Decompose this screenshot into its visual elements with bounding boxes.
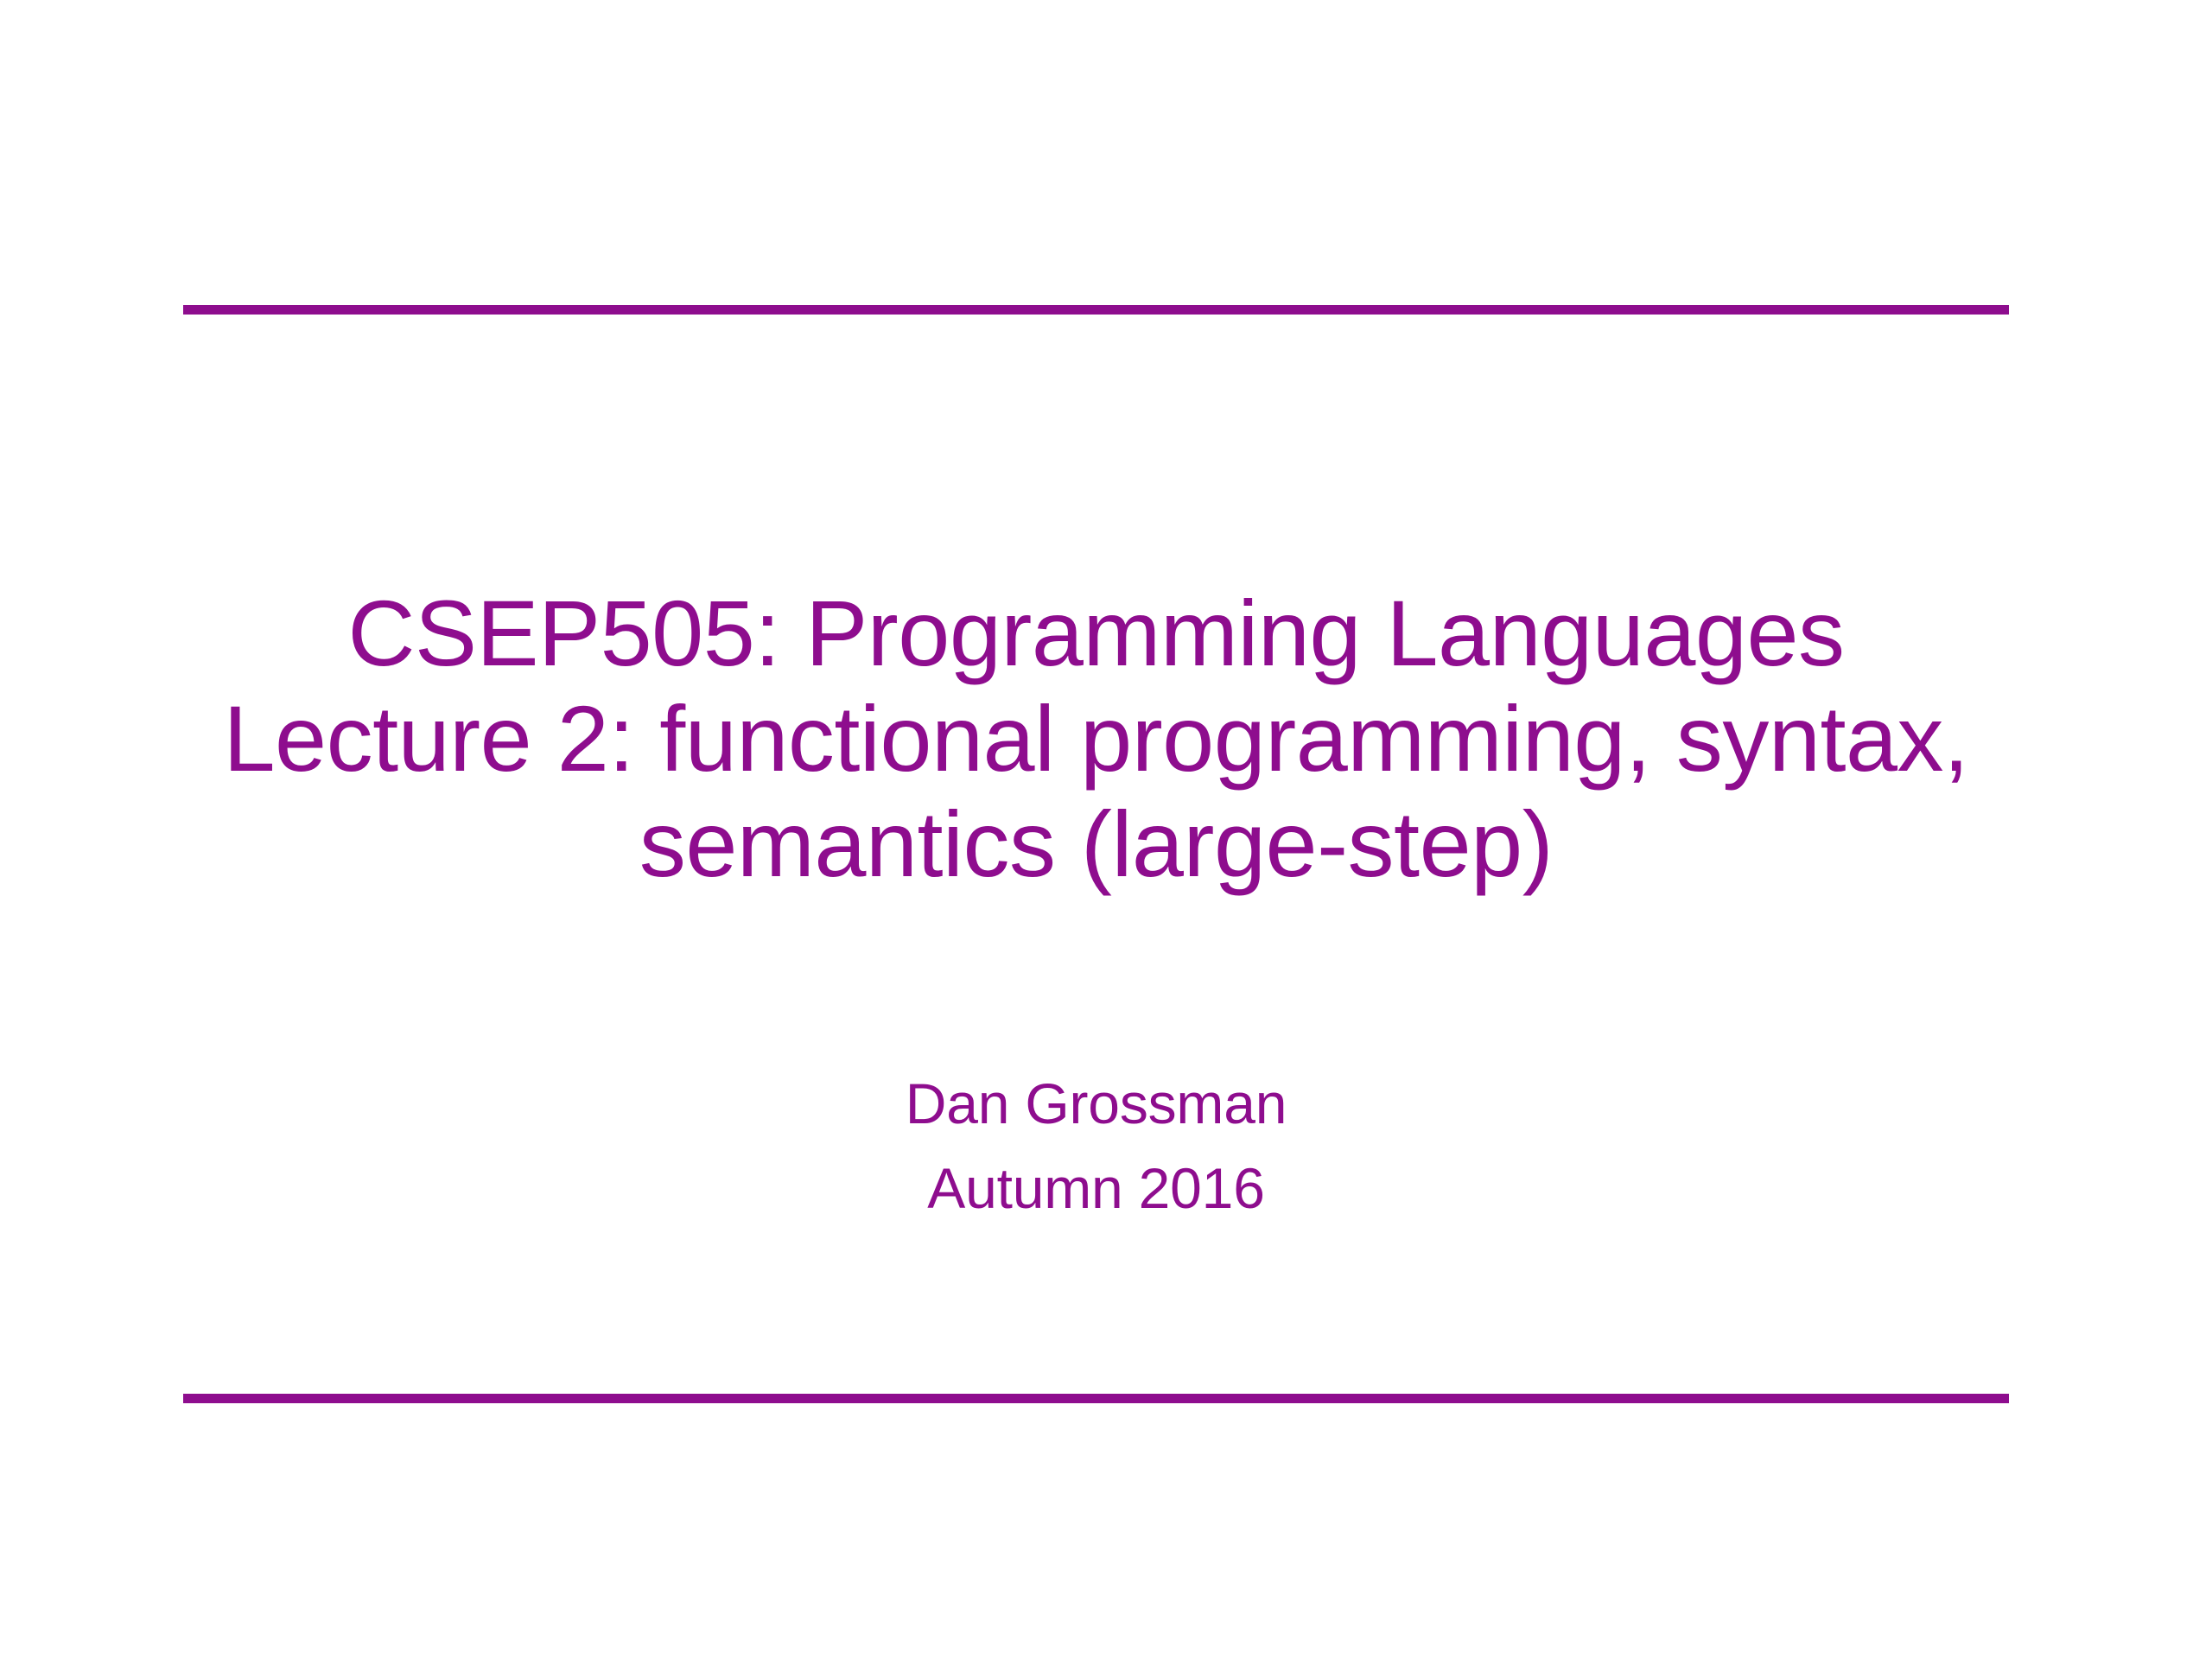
title-line-3: semantics (large-step) [183,791,2009,897]
title-slide: CSEP505: Programming Languages Lecture 2… [0,0,2212,1659]
top-divider-rule [183,305,2009,315]
subtitle: Dan Grossman Autumn 2016 [183,1061,2009,1230]
title-line-2: Lecture 2: functional programming, synta… [183,686,2009,791]
page-title: CSEP505: Programming Languages Lecture 2… [183,581,2009,897]
title-line-1: CSEP505: Programming Languages [183,581,2009,686]
bottom-divider-rule [183,1394,2009,1403]
author-name: Dan Grossman [183,1061,2009,1146]
term-label: Autumn 2016 [183,1146,2009,1230]
